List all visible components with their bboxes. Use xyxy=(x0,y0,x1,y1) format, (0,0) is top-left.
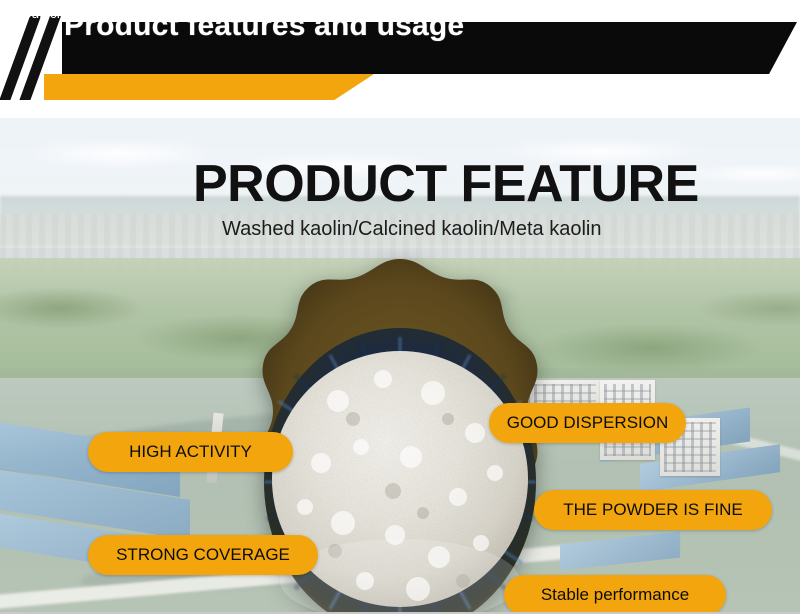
badge-strong-coverage[interactable]: STRONG COVERAGE xyxy=(88,535,318,575)
hero-subtitle: Washed kaolin/Calcined kaolin/Meta kaoli… xyxy=(222,216,601,242)
hero-title: PRODUCT FEATURE xyxy=(193,154,699,214)
header-banner: Product features and usage Sufficient su… xyxy=(0,0,800,118)
header-yellow-bar xyxy=(44,74,374,100)
product-feature-banner: Product features and usage Sufficient su… xyxy=(0,0,800,614)
badge-high-activity[interactable]: HIGH ACTIVITY xyxy=(88,432,293,472)
hero-section: PRODUCT FEATURE Washed kaolin/Calcined k… xyxy=(0,118,800,614)
badge-good-dispersion[interactable]: GOOD DISPERSION xyxy=(489,403,686,443)
badge-powder-is-fine[interactable]: THE POWDER IS FINE xyxy=(534,490,772,530)
badge-stable-performance[interactable]: Stable performance xyxy=(504,575,726,614)
header-subtitle: Sufficient supply and quality assurance xyxy=(22,1,264,26)
